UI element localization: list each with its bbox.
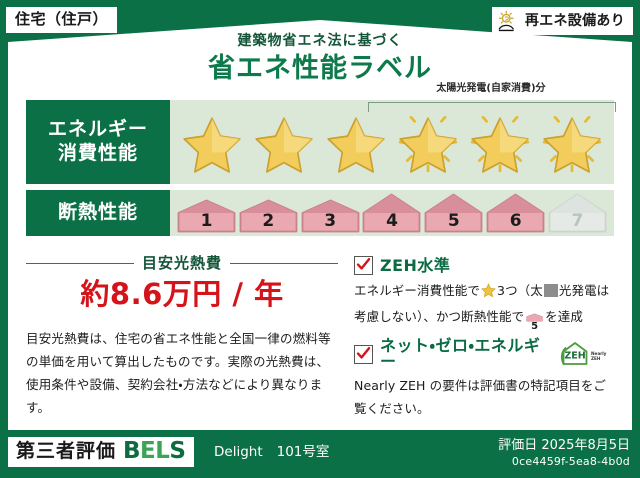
bels-certification-box: 第三者評価 BELS	[8, 437, 194, 467]
evaluation-info: 評価日 2025年8月5日 0ce4459f-5ea8-4b0d	[498, 438, 630, 469]
estimated-cost-value: 約8.6万円 / 年	[26, 280, 338, 309]
zeh-house-logo: ZEH Nearly ZEH	[560, 341, 614, 367]
star-1	[179, 109, 245, 175]
zeh-body-star-count: 3つ（太	[497, 283, 543, 298]
footer-band: 第三者評価 BELS Delight 101号室 評価日 2025年8月5日 0…	[0, 430, 640, 478]
zeh-body-part3: を達成	[545, 309, 583, 324]
grade-number: 4	[362, 213, 421, 230]
zeh-netzero-heading: ネット・ゼロ・エネルギー ZEH Nearly ZEH	[354, 338, 614, 370]
bels-logo: BELS	[123, 440, 185, 463]
insulation-grade-scale: 1 2 3 4 5 6 7	[170, 190, 614, 236]
bels-logo-s: S	[169, 438, 185, 464]
insulation-label-text: 断熱性能	[58, 201, 138, 225]
sun-renewable-icon	[497, 10, 521, 32]
zeh-standard-item: ZEH水準 エネルギー消費性能で3つ（太光発電は考慮しない）、かつ断熱性能で5を…	[354, 256, 614, 332]
grade-number: 5	[424, 213, 483, 230]
title-subtitle: 建築物省エネ法に基づく	[0, 34, 640, 48]
insulation-grade-1: 1	[177, 199, 236, 233]
grade-number: 2	[239, 213, 298, 230]
bels-logo-el: EL	[140, 438, 169, 464]
grade-number: 6	[486, 213, 545, 230]
check-icon	[356, 346, 371, 361]
insulation-grade-5: 5	[424, 193, 483, 233]
cost-description: 目安光熱費は、住宅の省エネ性能と全国一律の燃料等の単価を用いて算出したものです。…	[26, 327, 338, 420]
zeh-netzero-item: ネット・ゼロ・エネルギー ZEH Nearly ZEH Nearly ZEH の…	[354, 338, 614, 420]
zeh-standard-body: エネルギー消費性能で3つ（太光発電は考慮しない）、かつ断熱性能で5を達成	[354, 280, 614, 332]
star-4	[395, 109, 461, 175]
insulation-grade-2: 2	[239, 199, 298, 233]
grade-number: 7	[548, 213, 607, 230]
property-name: Delight	[214, 446, 263, 460]
svg-text:ZEH: ZEH	[564, 351, 585, 362]
star-5	[467, 109, 533, 175]
star-3	[323, 109, 389, 175]
evaluation-date-value: 2025年8月5日	[541, 438, 630, 453]
insulation-grade-panel: 1 2 3 4 5 6 7	[170, 190, 614, 236]
redacted-block	[544, 284, 558, 297]
third-party-eval-label: 第三者評価	[16, 442, 116, 461]
page-title: 省エネ性能ラベル	[0, 55, 640, 82]
details-section: 目安光熱費 約8.6万円 / 年 目安光熱費は、住宅の省エネ性能と全国一律の燃料…	[26, 256, 614, 426]
energy-label-line2: 消費性能	[58, 142, 138, 166]
zeh-netzero-checkbox[interactable]	[354, 345, 373, 364]
evaluation-date: 評価日 2025年8月5日	[498, 438, 630, 455]
energy-star-panel: 太陽光発電(自家消費)分	[170, 100, 614, 184]
zeh-standard-heading: ZEH水準	[354, 256, 614, 275]
evaluation-id: 0ce4459f-5ea8-4b0d	[498, 455, 630, 469]
solar-bracket	[368, 102, 616, 112]
title-block: 建築物省エネ法に基づく 省エネ性能ラベル	[0, 34, 640, 82]
star-6	[539, 109, 605, 175]
grade-number: 3	[301, 213, 360, 230]
cost-heading: 目安光熱費	[26, 256, 338, 271]
grade-number: 1	[177, 213, 236, 230]
zeh-netzero-title: ネット・ゼロ・エネルギー	[380, 338, 549, 370]
check-icon	[356, 257, 371, 272]
insulation-grade-4: 4	[362, 193, 421, 233]
cost-heading-text: 目安光熱費	[142, 256, 222, 271]
energy-performance-label: エネルギー 消費性能	[26, 100, 170, 184]
zeh-standard-checkbox[interactable]	[354, 256, 373, 275]
svg-text:ZEH: ZEH	[591, 356, 601, 361]
performance-section: エネルギー 消費性能 太陽光発電(自家消費)分	[26, 100, 614, 242]
energy-performance-row: エネルギー 消費性能 太陽光発電(自家消費)分	[26, 100, 614, 184]
renewable-badge-label: 再エネ設備あり	[525, 14, 625, 28]
renewable-energy-badge: 再エネ設備あり	[492, 7, 633, 35]
star-2	[251, 109, 317, 175]
insulation-performance-label: 断熱性能	[26, 190, 170, 236]
inline-star-icon	[481, 286, 496, 301]
building-type-tag: 住宅（住戸）	[6, 7, 117, 33]
insulation-grade-6: 6	[486, 193, 545, 233]
cost-column: 目安光熱費 約8.6万円 / 年 目安光熱費は、住宅の省エネ性能と全国一律の燃料…	[26, 256, 338, 426]
star-rating	[170, 100, 614, 184]
evaluation-date-label: 評価日	[498, 438, 537, 453]
insulation-grade-7: 7	[548, 193, 607, 233]
property-info: Delight 101号室	[214, 446, 329, 460]
solar-generation-note: 太陽光発電(自家消費)分	[366, 84, 616, 94]
insulation-grade-3: 3	[301, 199, 360, 233]
zeh-netzero-body: Nearly ZEH の要件は評価書の特記項目をご覧ください。	[354, 375, 614, 420]
inline-grade-badge: 5	[526, 310, 543, 333]
zeh-column: ZEH水準 エネルギー消費性能で3つ（太光発電は考慮しない）、かつ断熱性能で5を…	[338, 256, 614, 426]
energy-performance-label: 住宅（住戸） 再エネ設備あり 建築物省エネ法に	[0, 0, 640, 478]
bels-logo-b: B	[123, 438, 140, 464]
energy-label-line1: エネルギー	[48, 118, 148, 142]
insulation-performance-row: 断熱性能 1 2 3 4 5	[26, 190, 614, 236]
zeh-standard-title: ZEH水準	[380, 258, 450, 274]
zeh-body-part1: エネルギー消費性能で	[354, 283, 480, 298]
room-number: 101号室	[277, 446, 330, 460]
inline-grade-number: 5	[526, 322, 543, 332]
